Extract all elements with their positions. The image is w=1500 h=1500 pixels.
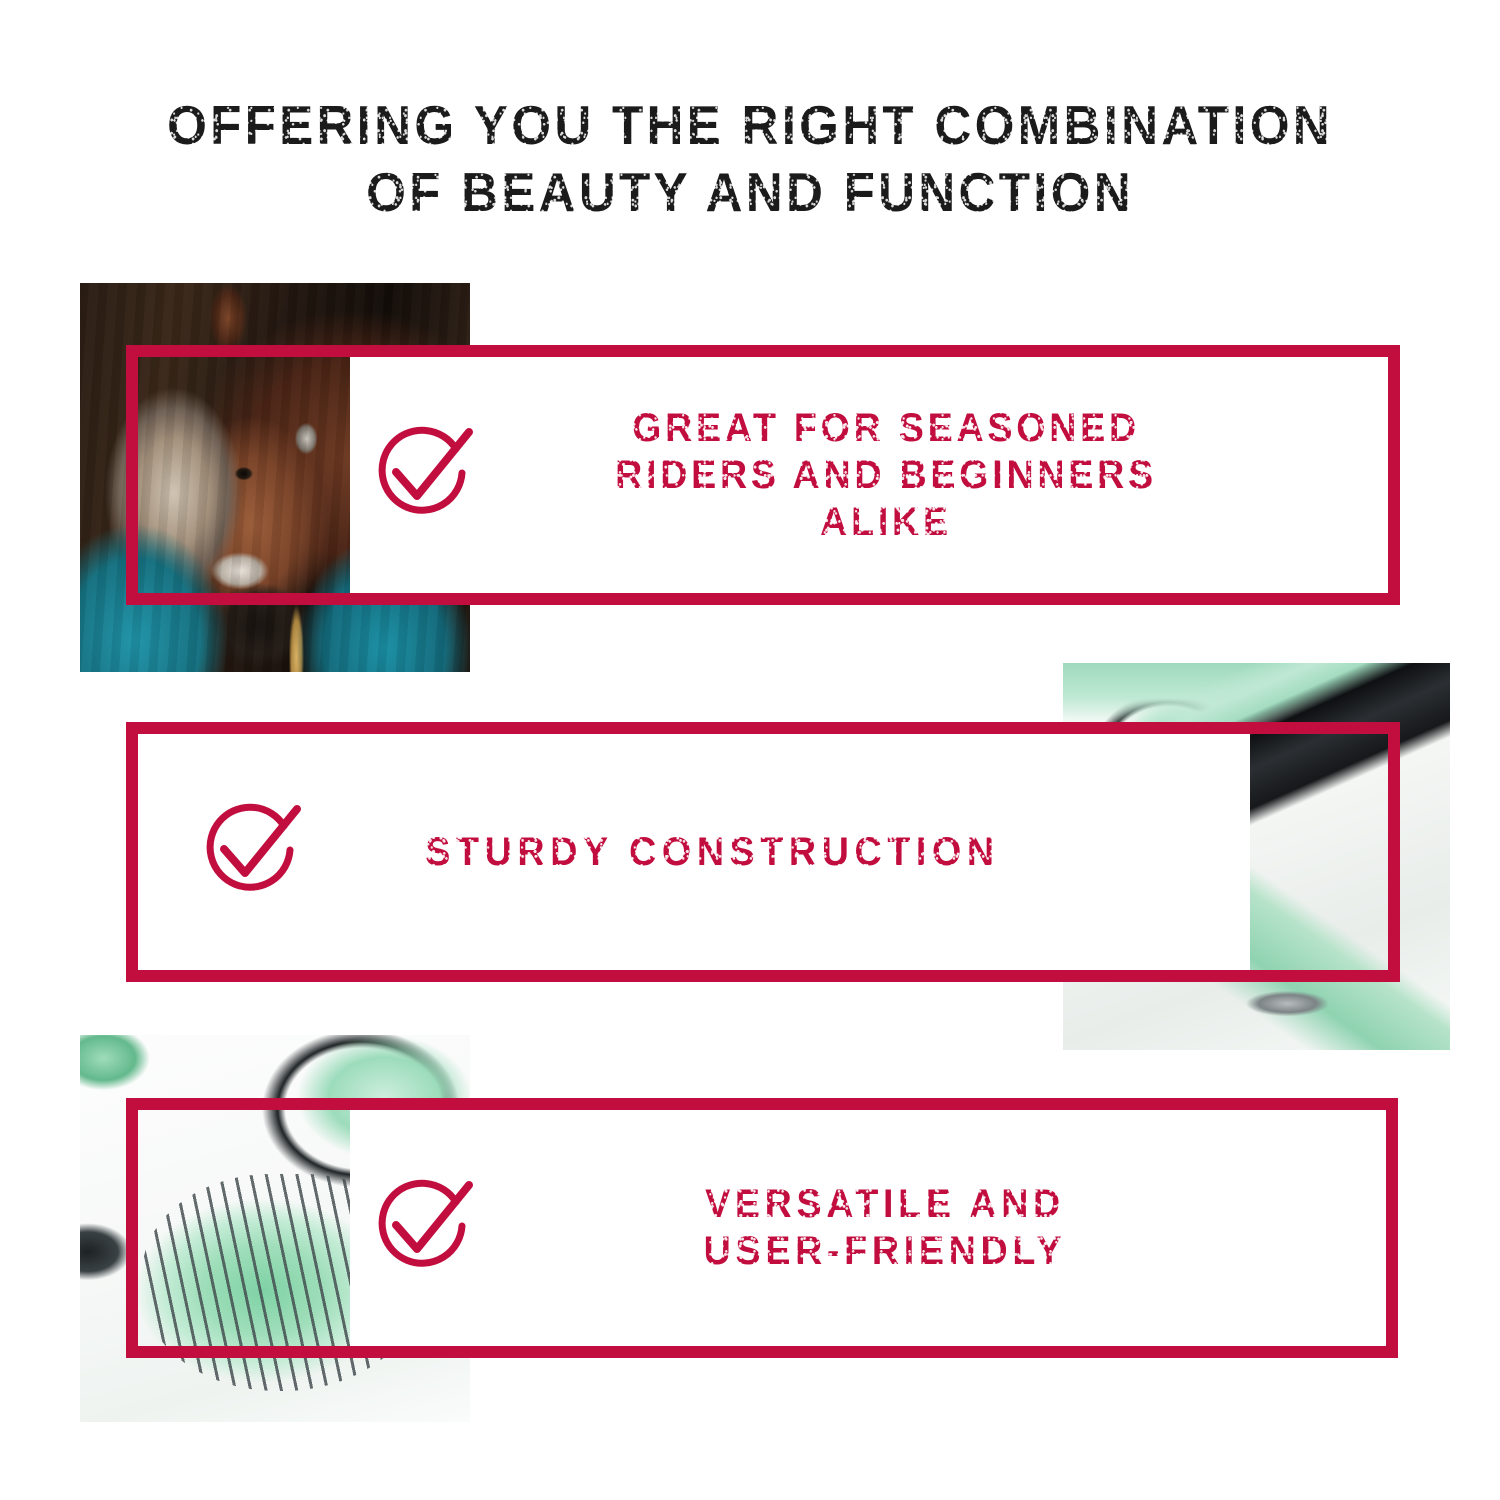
page-title-line-2: OF BEAUTY AND FUNCTION [53,159,1448,226]
feature-box-content: GREAT FOR SEASONED RIDERS AND BEGINNERS … [138,357,1388,593]
feature-box-versatile-user-friendly: VERSATILE AND USER-FRIENDLY [126,1098,1398,1358]
feature-label-sturdy-construction: STURDY CONSTRUCTION [327,829,1099,876]
feature-box-content: VERSATILE AND USER-FRIENDLY [138,1110,1386,1346]
feature-box-content: STURDY CONSTRUCTION [138,734,1388,970]
feature-label-seasoned-riders: GREAT FOR SEASONED RIDERS AND BEGINNERS … [499,405,1274,546]
feature-box-seasoned-riders: GREAT FOR SEASONED RIDERS AND BEGINNERS … [126,345,1400,605]
check-circle-icon [198,800,302,904]
infographic-canvas: OFFERING YOU THE RIGHT COMBINATION OF BE… [0,0,1500,1500]
check-circle-icon [370,423,474,527]
page-title: OFFERING YOU THE RIGHT COMBINATION OF BE… [53,92,1448,226]
feature-box-sturdy-construction: STURDY CONSTRUCTION [126,722,1400,982]
page-title-line-1: OFFERING YOU THE RIGHT COMBINATION [53,92,1448,159]
feature-label-versatile-user-friendly: VERSATILE AND USER-FRIENDLY [499,1181,1272,1275]
check-circle-icon [370,1176,474,1280]
